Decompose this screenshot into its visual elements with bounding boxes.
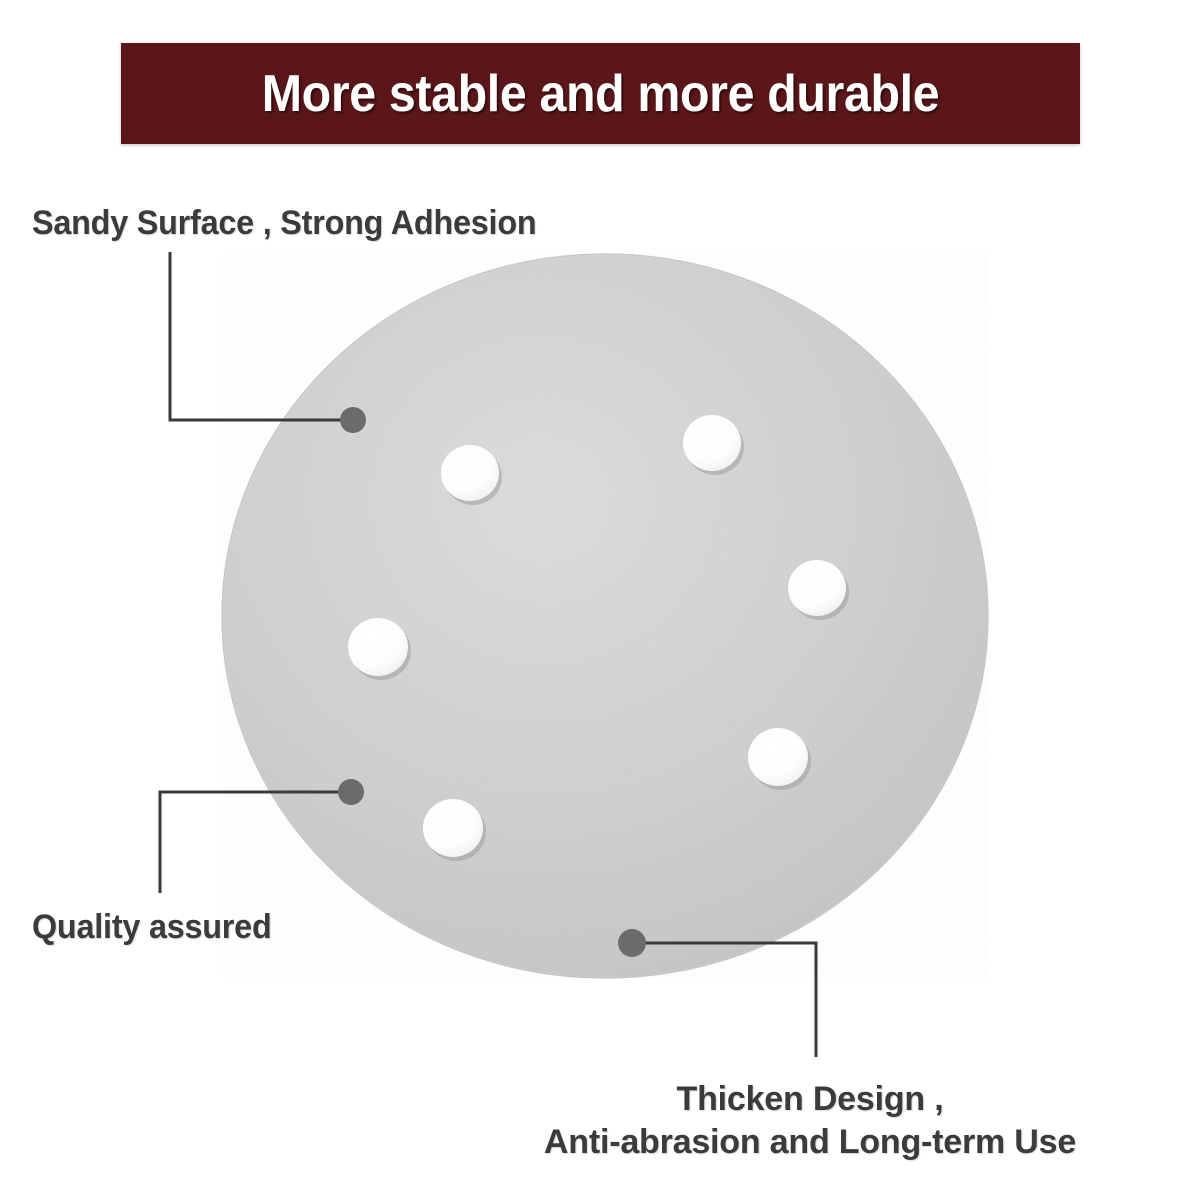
callout-label-thicken-line1: Thicken Design , bbox=[460, 1078, 1160, 1121]
hole-shadow bbox=[426, 803, 486, 861]
sanding-disc-body bbox=[222, 254, 988, 986]
callout-dot bbox=[340, 407, 366, 433]
hole-opening bbox=[683, 415, 741, 471]
disc-surface bbox=[222, 254, 988, 978]
disc-hole bbox=[788, 560, 849, 620]
callout-dot bbox=[338, 779, 364, 805]
disc-hole-group bbox=[348, 415, 849, 861]
leader-line bbox=[170, 252, 345, 420]
callout-leader-thicken bbox=[618, 929, 816, 1057]
disc-hole bbox=[348, 618, 411, 680]
disc-hole bbox=[441, 445, 502, 505]
disc-grain-texture bbox=[222, 254, 988, 978]
header-banner: More stable and more durable bbox=[121, 43, 1080, 144]
disc-rim-highlight bbox=[250, 760, 960, 986]
leader-line bbox=[643, 943, 816, 1057]
hole-opening bbox=[423, 799, 483, 857]
hole-shadow bbox=[751, 732, 811, 790]
hole-opening bbox=[788, 560, 846, 616]
infographic-page: More stable and more durable bbox=[0, 0, 1200, 1200]
hole-shadow bbox=[791, 564, 849, 620]
callout-label-sandy-surface: Sandy Surface , Strong Adhesion bbox=[32, 204, 536, 243]
banner-title: More stable and more durable bbox=[155, 43, 1047, 144]
hole-shadow bbox=[686, 419, 744, 475]
hole-shadow bbox=[351, 622, 411, 680]
disc-hole bbox=[423, 799, 486, 861]
hole-shadow bbox=[444, 449, 502, 505]
callout-label-quality-assured: Quality assured bbox=[32, 908, 272, 947]
callout-label-thicken-line2: Anti-abrasion and Long-term Use bbox=[460, 1121, 1160, 1164]
callout-leader-quality bbox=[160, 779, 364, 893]
leader-line bbox=[160, 792, 343, 893]
disc-outline bbox=[222, 254, 988, 978]
product-illustration bbox=[0, 0, 1200, 1200]
callout-leader-sandy bbox=[170, 252, 366, 433]
disc-hole bbox=[683, 415, 744, 475]
hole-opening bbox=[348, 618, 408, 676]
hole-opening bbox=[441, 445, 499, 501]
callout-label-thicken-design: Thicken Design , Anti-abrasion and Long-… bbox=[460, 1078, 1160, 1164]
callout-dot bbox=[618, 929, 646, 957]
disc-hole bbox=[748, 728, 811, 790]
hole-opening bbox=[748, 728, 808, 786]
